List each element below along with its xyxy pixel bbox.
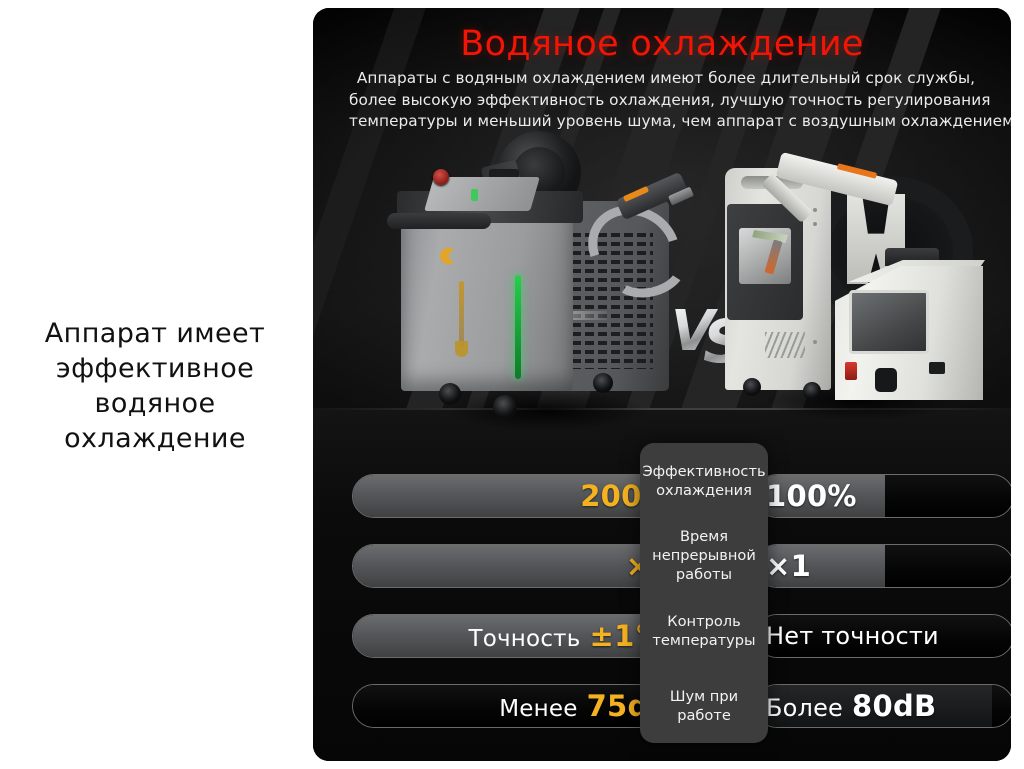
- criterion-continuous-runtime: Время непрерывной работы: [640, 518, 768, 593]
- row-2-left-bar: ×2: [352, 544, 682, 588]
- comparison-chart: 200% 100% ×2: [313, 8, 1011, 761]
- row-2-right-value: ×1: [766, 549, 811, 583]
- criterion-temperature-control: Контроль температуры: [640, 593, 768, 668]
- row-3-left-label: Точность: [469, 626, 581, 652]
- row-4-right-value: 80dB: [852, 689, 936, 723]
- left-caption-line-4: охлаждение: [0, 421, 310, 456]
- criterion-2-line-1: Время: [680, 528, 728, 545]
- criterion-2-line-2: непрерывной: [652, 547, 756, 564]
- left-caption-line-2: эффективное: [0, 351, 310, 386]
- criterion-4-line-2: работе: [677, 707, 731, 724]
- row-2-right-bar: ×1: [755, 544, 1011, 588]
- slide-canvas: Аппарат имеет эффективное водяное охлажд…: [0, 0, 1024, 769]
- row-3-left-bar: Точность ±1°C: [352, 614, 682, 658]
- left-caption-line-3: водяное: [0, 386, 310, 421]
- criterion-operating-noise: Шум при работе: [640, 668, 768, 743]
- row-4-right-bar: Более 80dB: [755, 684, 1011, 728]
- criterion-cooling-efficiency: Эффективность охлаждения: [640, 443, 768, 518]
- left-caption: Аппарат имеет эффективное водяное охлажд…: [0, 316, 310, 456]
- criterion-3-line-1: Контроль: [667, 613, 740, 630]
- criteria-column: Эффективность охлаждения Время непрерывн…: [640, 443, 768, 743]
- criterion-3-line-2: температуры: [652, 632, 755, 649]
- criterion-4-line-1: Шум при: [670, 688, 738, 705]
- row-1-right-value: 100%: [766, 479, 857, 513]
- criterion-1-line-1: Эффективность: [642, 463, 765, 480]
- criterion-1-line-2: охлаждения: [656, 482, 752, 499]
- dark-slide-panel: Водяное охлаждение Аппараты с водяным ох…: [313, 8, 1011, 761]
- row-4-left-label: Менее: [499, 696, 577, 722]
- row-4-right-label: Более: [766, 694, 843, 722]
- criterion-2-line-3: работы: [676, 566, 732, 583]
- row-1-left-bar: 200%: [352, 474, 682, 518]
- row-1-right-bar: 100%: [755, 474, 1011, 518]
- row-4-left-bar: Менее 75dB: [352, 684, 682, 728]
- left-caption-line-1: Аппарат имеет: [0, 316, 310, 351]
- row-3-right-label: Нет точности: [766, 622, 939, 650]
- row-3-right-bar: Нет точности: [755, 614, 1011, 658]
